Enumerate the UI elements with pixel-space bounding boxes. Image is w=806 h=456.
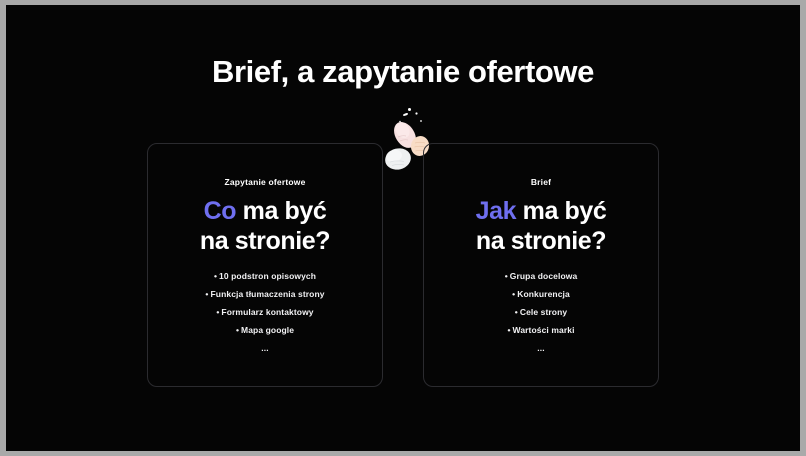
card-heading-accent: Co	[204, 197, 237, 225]
bullet-icon: •	[505, 271, 508, 281]
pebble-white-icon	[383, 146, 413, 173]
list-item: •Grupa docelowa	[424, 272, 658, 281]
list-item-label: Konkurencja	[517, 289, 570, 299]
card-zapytanie-ofertowe[interactable]: Zapytanie ofertowe Co ma być na stronie?…	[147, 143, 383, 387]
list-item: •Wartości marki	[424, 326, 658, 335]
card-heading: Co ma być na stronie?	[148, 196, 382, 256]
list-item: •Konkurencja	[424, 290, 658, 299]
card-heading: Jak ma być na stronie?	[424, 196, 658, 256]
bullet-icon: •	[214, 271, 217, 281]
screenshot-frame: Brief, a zapytanie ofertowe	[0, 0, 806, 456]
list-item-label: Mapa google	[241, 325, 294, 335]
list-item-label: Funkcja tłumaczenia strony	[211, 289, 325, 299]
bullet-icon: •	[216, 307, 219, 317]
bullet-icon: •	[236, 325, 239, 335]
card-heading-rest: ma być	[236, 197, 326, 225]
card-label: Zapytanie ofertowe	[148, 177, 382, 187]
card-heading-rest: ma być	[516, 197, 606, 225]
card-label: Brief	[424, 177, 658, 187]
card-heading-line1: Jak ma być	[424, 196, 658, 226]
card-heading-line2: na stronie?	[424, 226, 658, 256]
list-item: •Mapa google	[148, 326, 382, 335]
card-feature-list: •Grupa docelowa •Konkurencja •Cele stron…	[424, 272, 658, 362]
list-item-label: 10 podstron opisowych	[219, 271, 316, 281]
list-ellipsis: ...	[424, 344, 658, 353]
sparkle-specks-icon	[399, 108, 422, 122]
bullet-icon: •	[205, 289, 208, 299]
bullet-icon: •	[512, 289, 515, 299]
list-item-label: Cele strony	[520, 307, 567, 317]
list-item: •10 podstron opisowych	[148, 272, 382, 281]
list-item: •Cele strony	[424, 308, 658, 317]
pebble-pink-icon	[390, 118, 421, 152]
card-heading-line2: na stronie?	[148, 226, 382, 256]
card-brief[interactable]: Brief Jak ma być na stronie? •Grupa doce…	[423, 143, 659, 387]
bullet-icon: •	[515, 307, 518, 317]
page-title: Brief, a zapytanie ofertowe	[6, 55, 800, 89]
list-item: •Funkcja tłumaczenia strony	[148, 290, 382, 299]
bullet-icon: •	[507, 325, 510, 335]
card-heading-line1: Co ma być	[148, 196, 382, 226]
card-feature-list: •10 podstron opisowych •Funkcja tłumacze…	[148, 272, 382, 362]
list-item-label: Formularz kontaktowy	[221, 307, 313, 317]
list-item-label: Wartości marki	[513, 325, 575, 335]
list-ellipsis: ...	[148, 344, 382, 353]
card-heading-accent: Jak	[476, 197, 517, 225]
slide-canvas: Brief, a zapytanie ofertowe	[6, 5, 800, 451]
list-item: •Formularz kontaktowy	[148, 308, 382, 317]
list-item-label: Grupa docelowa	[510, 271, 578, 281]
